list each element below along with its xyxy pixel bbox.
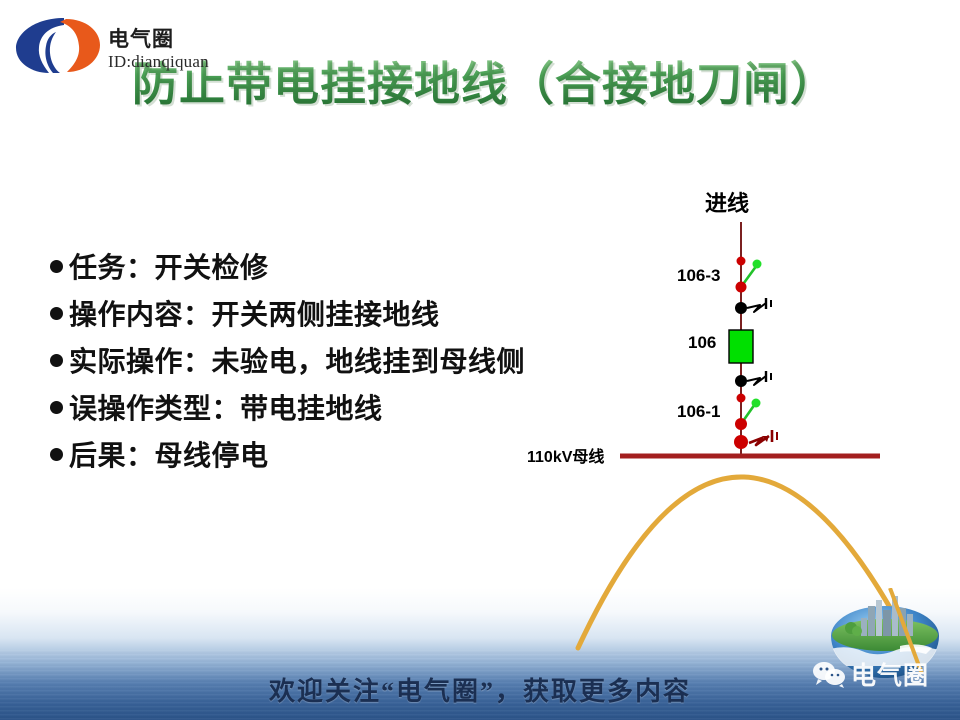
electric-circle-logo-icon xyxy=(12,14,104,76)
list-item-label: 任务：开关检修 xyxy=(69,246,269,286)
circuit-breaker-106-label: 106 xyxy=(688,333,716,353)
list-item: 任务：开关检修 xyxy=(50,246,525,286)
ground-symbol-upper-icon xyxy=(747,303,766,312)
ground-symbol-upper-node xyxy=(735,302,747,314)
slide-canvas: 电气圈 ID:dianqiquan 防止带电挂接地线（合接地刀闸） 任务：开关检… xyxy=(0,0,960,720)
disconnector-106-3-upper-contact xyxy=(737,257,746,266)
wechat-watermark: 电气圈 xyxy=(812,656,929,692)
bullet-list: 任务：开关检修 操作内容：开关两侧挂接地线 实际操作：未验电，地线挂到母线侧 误… xyxy=(50,246,525,481)
disconnector-106-1-blade xyxy=(741,404,755,424)
list-item-label: 后果：母线停电 xyxy=(69,434,269,474)
disconnector-106-1-lower-contact xyxy=(735,418,747,430)
ground-symbol-lower-icon xyxy=(747,376,766,385)
disconnector-106-1-blade-tip xyxy=(752,399,761,408)
busbar-label-cn: 母线 xyxy=(572,449,604,466)
disconnector-106-3-lower-contact xyxy=(736,282,747,293)
bullet-dot-icon xyxy=(50,354,63,367)
disconnector-106-3-label: 106-3 xyxy=(677,266,720,286)
circuit-breaker-106-body xyxy=(729,330,753,363)
list-item-label: 误操作类型：带电挂地线 xyxy=(69,387,383,427)
wechat-watermark-label: 电气圈 xyxy=(851,656,929,692)
disconnector-106-1-upper-contact xyxy=(737,394,746,403)
logo-id: ID:dianqiquan xyxy=(108,52,209,71)
ground-symbol-fault-arrowhead xyxy=(762,436,769,442)
ground-symbol-fault-icon xyxy=(749,436,769,445)
list-item-label: 操作内容：开关两侧挂接地线 xyxy=(69,293,440,333)
logo-name: 电气圈 xyxy=(108,28,209,52)
busbar-label-kv: 110kV xyxy=(527,449,572,466)
disconnector-106-3-blade-tip xyxy=(753,260,762,269)
ground-symbol-fault-node xyxy=(734,435,748,449)
page-title: 防止带电挂接地线（合接地刀闸） xyxy=(132,48,872,114)
bullet-dot-icon xyxy=(50,401,63,414)
list-item-label: 实际操作：未验电，地线挂到母线侧 xyxy=(69,340,525,380)
wechat-icon xyxy=(812,660,846,688)
disconnector-106-1-label: 106-1 xyxy=(677,402,720,422)
brand-logo: 电气圈 ID:dianqiquan xyxy=(12,14,209,76)
busbar-label: 110kV母线 xyxy=(527,443,604,467)
list-item: 操作内容：开关两侧挂接地线 xyxy=(50,293,525,333)
list-item: 后果：母线停电 xyxy=(50,434,525,474)
incoming-line-label: 进线 xyxy=(705,186,749,218)
bullet-dot-icon xyxy=(50,260,63,273)
list-item: 误操作类型：带电挂地线 xyxy=(50,387,525,427)
ground-symbol-lower-node xyxy=(735,375,747,387)
list-item: 实际操作：未验电，地线挂到母线侧 xyxy=(50,340,525,380)
bullet-dot-icon xyxy=(50,448,63,461)
bullet-dot-icon xyxy=(50,307,63,320)
disconnector-106-3-blade xyxy=(741,265,757,287)
